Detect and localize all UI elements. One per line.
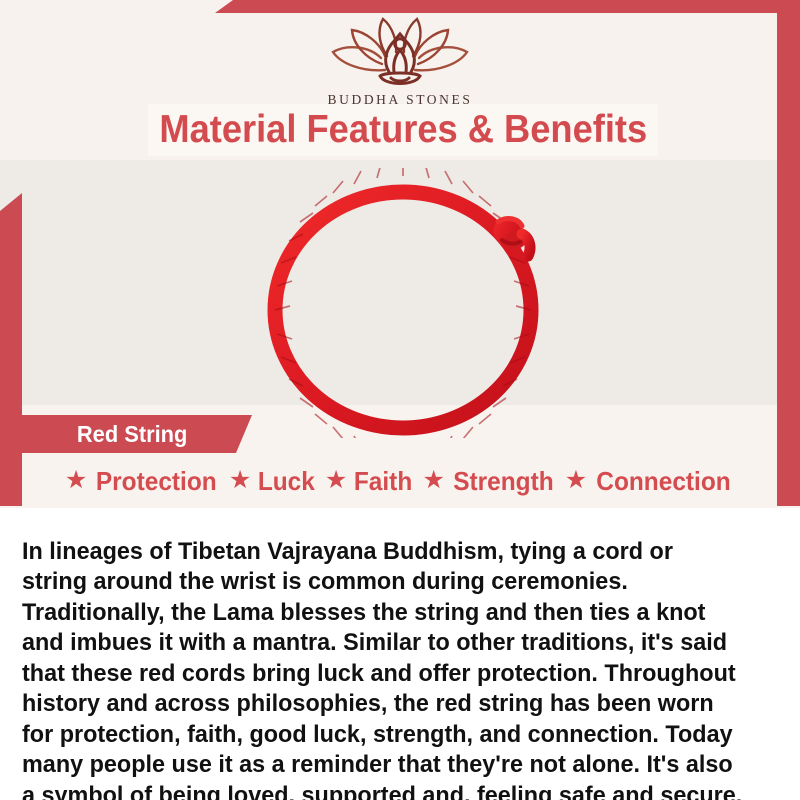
benefit-item-protection: ★ Protection [65,466,221,497]
benefit-item-faith: ★ Faith [325,466,415,497]
product-label-banner: Red String [22,415,252,453]
benefit-item-connection: ★ Connection [565,466,735,497]
benefit-label: Faith [354,466,412,497]
lotus-meditation-figure-icon [325,14,475,90]
product-label: Red String [77,421,187,448]
description-paragraph: In lineages of Tibetan Vajrayana Buddhis… [22,537,744,800]
material-features-infographic: BUDDHA STONES Material Features & Benefi… [0,0,800,800]
benefit-item-strength: ★ Strength [422,466,556,497]
benefits-row: ★ Protection ★ Luck ★ Faith ★ Strength ★… [0,466,800,497]
star-icon: ★ [325,468,347,493]
red-braided-string-bracelet-image [240,168,580,438]
decorative-red-bar-top [215,0,800,13]
benefit-label: Luck [258,466,315,497]
benefit-label: Strength [453,466,553,497]
decorative-red-bar-left [0,193,22,506]
title-banner: Material Features & Benefits [148,104,658,156]
benefit-item-luck: ★ Luck [229,466,317,497]
brand-logo: BUDDHA STONES [0,14,800,108]
benefit-label: Connection [596,466,730,497]
benefit-label: Protection [96,466,217,497]
star-icon: ★ [565,468,587,493]
star-icon: ★ [65,468,87,493]
page-title: Material Features & Benefits [159,108,647,152]
bracelet-loop [275,192,531,428]
star-icon: ★ [229,468,251,493]
star-icon: ★ [422,468,444,493]
